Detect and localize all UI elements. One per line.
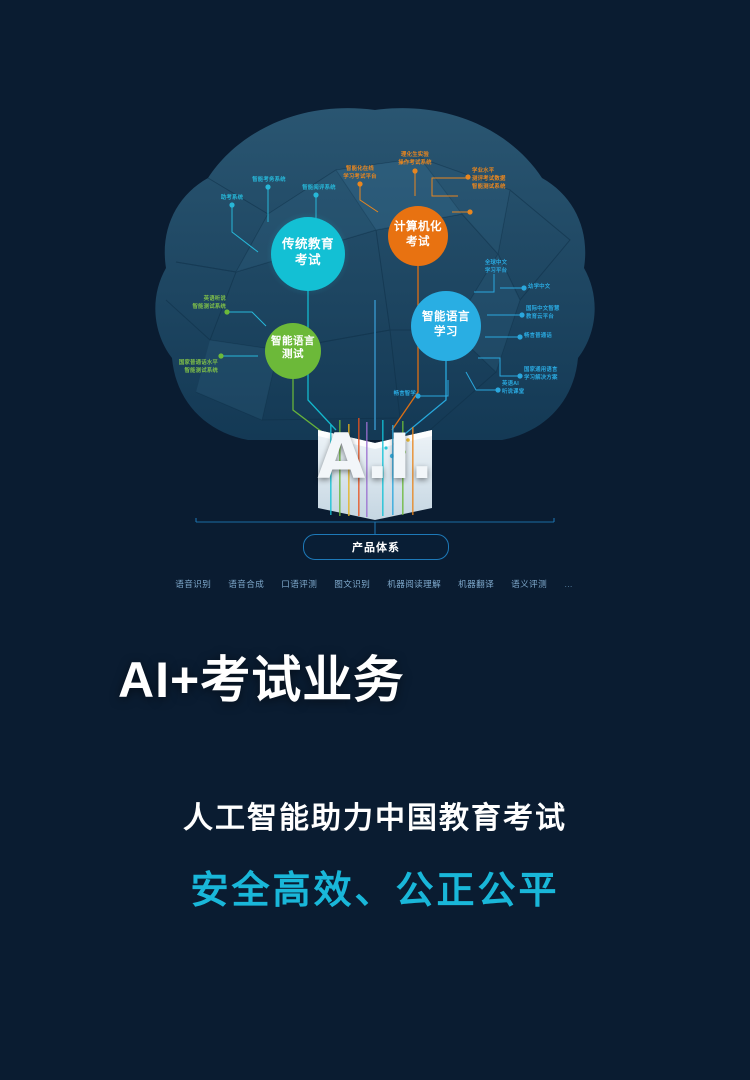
subheadline: 人工智能助力中国教育考试 [0,793,750,837]
node-computerized-exam [388,206,448,266]
satellite-label-smart-grading: 智能阅评系统 [286,185,352,193]
tagline: 安全高效、公正公平 [0,859,750,914]
poster-root: A.I. 传统教育 考试 计算机化 考试 智能语言 测试 智能语言 学习 助考系… [0,0,750,1080]
tag-speech-recognition[interactable]: 语音识别 [175,578,211,590]
satellite-label-english-ai-classroom: 英语AI 听说课堂 [502,381,554,397]
page-title: AI+考试业务 [118,655,750,705]
tag-speech-synthesis[interactable]: 语音合成 [228,578,264,590]
satellite-label-english-listening-test: 英语听说 智能测试系统 [168,296,226,312]
satellite-label-mandarin-level-test: 国家普通话水平 智能测试系统 [156,360,218,376]
product-system-pill-label: 产品体系 [352,539,400,555]
tag-oral-assessment[interactable]: 口语评测 [281,578,317,590]
tag-more-ellipsis: … [564,579,575,589]
tag-machine-translation[interactable]: 机器翻译 [458,578,494,590]
tag-machine-reading-comprehension[interactable]: 机器阅读理解 [387,578,441,590]
satellite-label-changyan-mandarin: 畅言普通话 [524,333,584,341]
satellite-label-changyan-smart-learning: 畅言智学 [366,391,416,399]
satellite-label-assist-system: 助考系统 [200,195,264,203]
node-smart-language-test [265,323,321,379]
satellite-label-global-chinese-platform: 全球中文 学习平台 [468,260,524,276]
satellite-label-online-exam-platform: 智能化在线 学习考试平台 [328,166,392,182]
node-traditional-exam [271,217,345,291]
satellite-label-kids-chinese: 幼学中文 [528,284,588,292]
copy-block: AI+考试业务 人工智能助力中国教育考试 安全高效、公正公平 [0,655,750,914]
ai-wordmark-text: A.I. [305,426,445,488]
product-system-pill[interactable]: 产品体系 [303,534,449,560]
brain-diagram: A.I. 传统教育 考试 计算机化 考试 智能语言 测试 智能语言 学习 助考系… [0,0,750,640]
satellite-label-lab-operation-exam: 理化生实验 操作考试系统 [383,152,447,168]
capability-tag-row: 语音识别 语音合成 口语评测 图文识别 机器阅读理解 机器翻译 语义评测 … [0,578,750,590]
tag-image-text-recognition[interactable]: 图文识别 [334,578,370,590]
satellite-label-smart-exam-admin: 智能考务系统 [236,177,302,185]
node-smart-language-learning [411,291,481,361]
satellite-label-intl-chinese-cloud: 国际中文智慧 教育云平台 [526,306,588,322]
ai-wordmark: A.I. [305,412,445,527]
satellite-label-academic-level-test: 学业水平 测评考试数据 智能测试系统 [472,168,542,191]
tag-semantic-assessment[interactable]: 语义评测 [511,578,547,590]
